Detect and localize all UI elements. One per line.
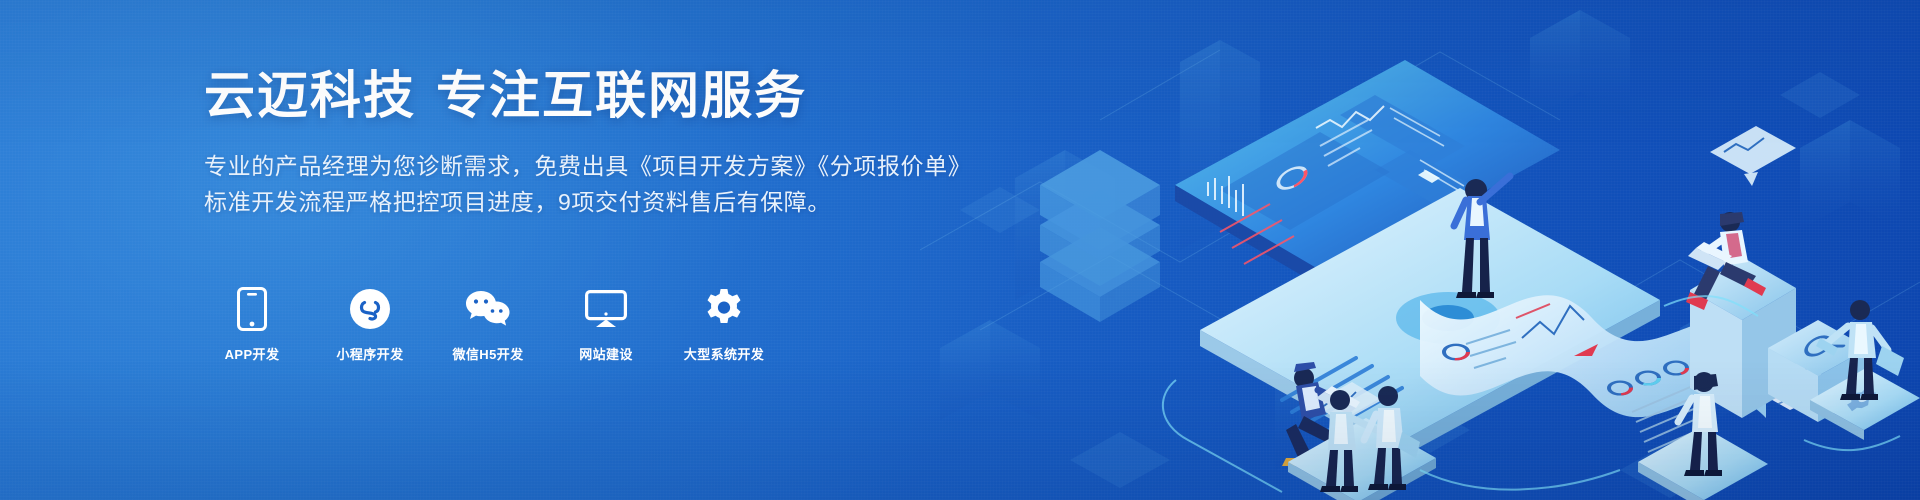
title-part-1: 云迈科技	[204, 67, 416, 124]
service-label: 大型系统开发	[684, 344, 764, 363]
service-label: 小程序开发	[336, 344, 403, 363]
page-title: 云迈科技专注互联网服务	[204, 66, 924, 126]
banner-copy: 云迈科技专注互联网服务 专业的产品经理为您诊断需求，免费出具《项目开发方案》《分…	[204, 66, 924, 220]
isometric-illustration	[920, 0, 1920, 500]
service-item-mini-program[interactable]: 小程序开发	[322, 287, 418, 363]
title-part-2: 专注互联网服务	[436, 67, 807, 124]
wechat-chat-icon	[465, 287, 511, 331]
service-label: 网站建设	[579, 344, 633, 363]
service-item-large-system[interactable]: 大型系统开发	[676, 287, 772, 363]
subtitle-line-1: 专业的产品经理为您诊断需求，免费出具《项目开发方案》《分项报价单》	[204, 148, 924, 184]
gear-icon	[703, 287, 745, 331]
subtitle-line-2: 标准开发流程严格把控项目进度，9项交付资料售后有保障。	[204, 184, 924, 220]
service-label: 微信H5开发	[452, 344, 523, 363]
mini-program-icon	[350, 287, 390, 331]
service-item-website[interactable]: 网站建设	[558, 287, 654, 363]
service-icon-row: APP开发 小程序开发	[204, 287, 794, 363]
hero-banner: 云迈科技专注互联网服务 专业的产品经理为您诊断需求，免费出具《项目开发方案》《分…	[0, 0, 1920, 500]
mobile-phone-icon	[237, 287, 267, 331]
banner-subtitle: 专业的产品经理为您诊断需求，免费出具《项目开发方案》《分项报价单》 标准开发流程…	[204, 148, 924, 220]
service-item-app[interactable]: APP开发	[204, 287, 300, 363]
service-label: APP开发	[225, 344, 280, 363]
desktop-monitor-icon	[585, 287, 627, 331]
server-stack	[1040, 150, 1160, 322]
service-item-wechat-h5[interactable]: 微信H5开发	[440, 287, 536, 363]
